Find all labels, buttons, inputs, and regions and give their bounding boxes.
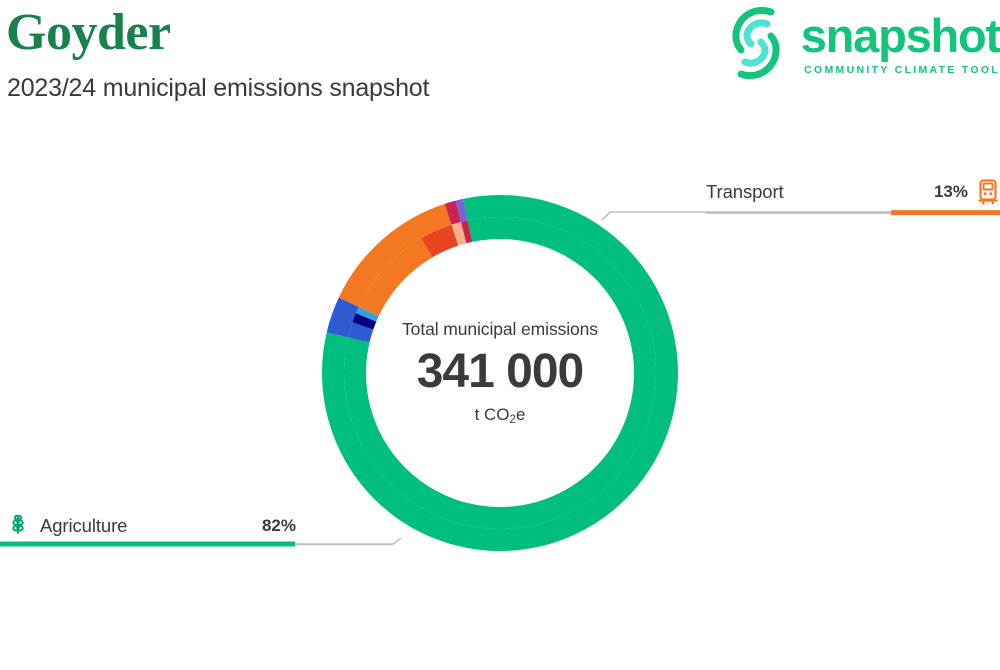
callout-agriculture-leader-line: [0, 538, 410, 558]
logo-tagline: COMMUNITY CLIMATE TOOL: [801, 63, 1000, 77]
callout-transport-percent: 13%: [934, 182, 976, 202]
page-subtitle: 2023/24 municipal emissions snapshot: [7, 70, 429, 106]
emissions-snapshot-page: Goyder 2023/24 municipal emissions snaps…: [0, 0, 1000, 670]
callout-transport[interactable]: Transport 13%: [600, 178, 1000, 224]
callout-agriculture-label: Agriculture: [40, 515, 127, 537]
callout-transport-label: Transport: [706, 181, 784, 203]
logo-wordmark: snapshot: [801, 10, 1000, 62]
callout-transport-leader-line: [600, 202, 1000, 222]
donut-outer-ring: [322, 195, 678, 551]
callout-agriculture-row: Agriculture 82%: [6, 512, 296, 540]
snapshot-logo: snapshot COMMUNITY CLIMATE TOOL: [721, 4, 1000, 86]
emissions-donut-chart: Total municipal emissions 341 000 t CO2e: [322, 195, 678, 551]
donut-inner-ring: [344, 217, 656, 529]
donut-svg: [322, 195, 678, 551]
snapshot-spiral-logo-icon: [721, 4, 791, 82]
callout-agriculture-percent: 82%: [262, 516, 296, 536]
callout-agriculture[interactable]: Agriculture 82%: [0, 512, 410, 558]
page-title: Goyder: [6, 2, 171, 64]
logo-text: snapshot COMMUNITY CLIMATE TOOL: [801, 4, 1000, 77]
wheat-icon: [6, 513, 30, 539]
